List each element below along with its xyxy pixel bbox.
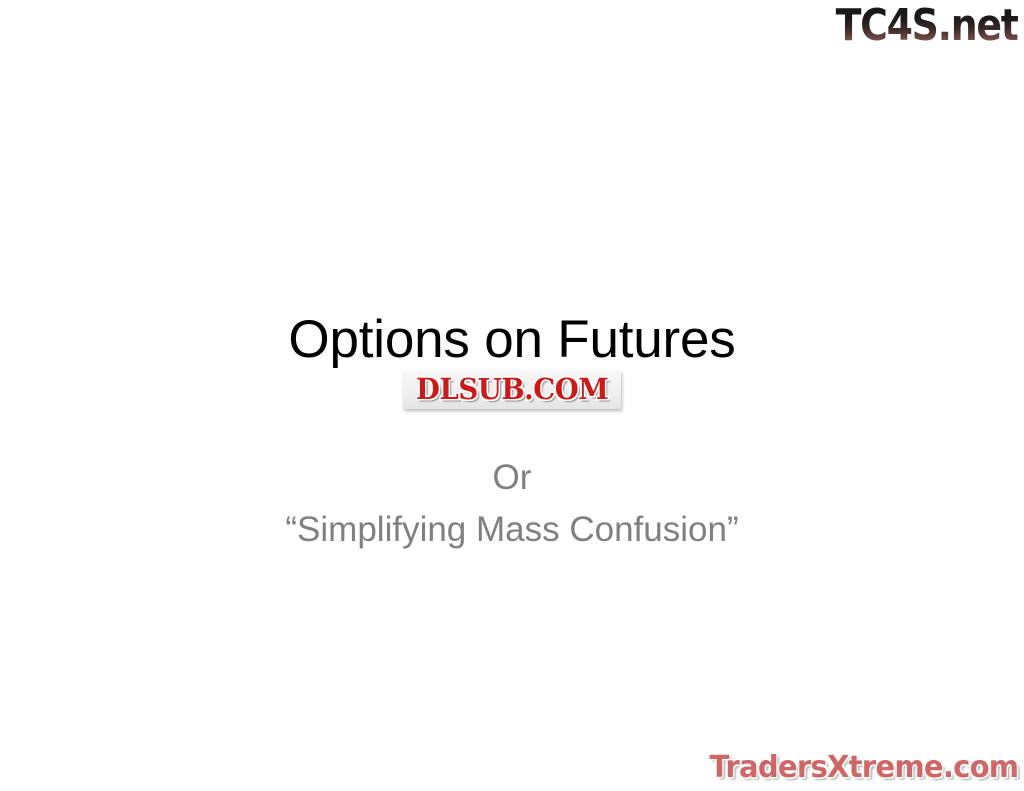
tradersxtreme-watermark: TradersXtreme.com <box>709 751 1018 785</box>
subtitle-line-2: “Simplifying Mass Confusion” <box>0 504 1024 556</box>
slide-title: Options on Futures <box>0 310 1024 370</box>
slide-subtitle: Or “Simplifying Mass Confusion” <box>0 452 1024 556</box>
tc4s-watermark: TC4S.net <box>836 2 1018 50</box>
dlsub-watermark-box: DLSUB.COM <box>403 371 621 409</box>
dlsub-watermark-container: DLSUB.COM <box>0 371 1024 409</box>
dlsub-watermark-text: DLSUB.COM <box>416 374 608 405</box>
subtitle-line-1: Or <box>0 452 1024 504</box>
presentation-slide: TC4S.net Options on Futures DLSUB.COM Or… <box>0 0 1024 791</box>
